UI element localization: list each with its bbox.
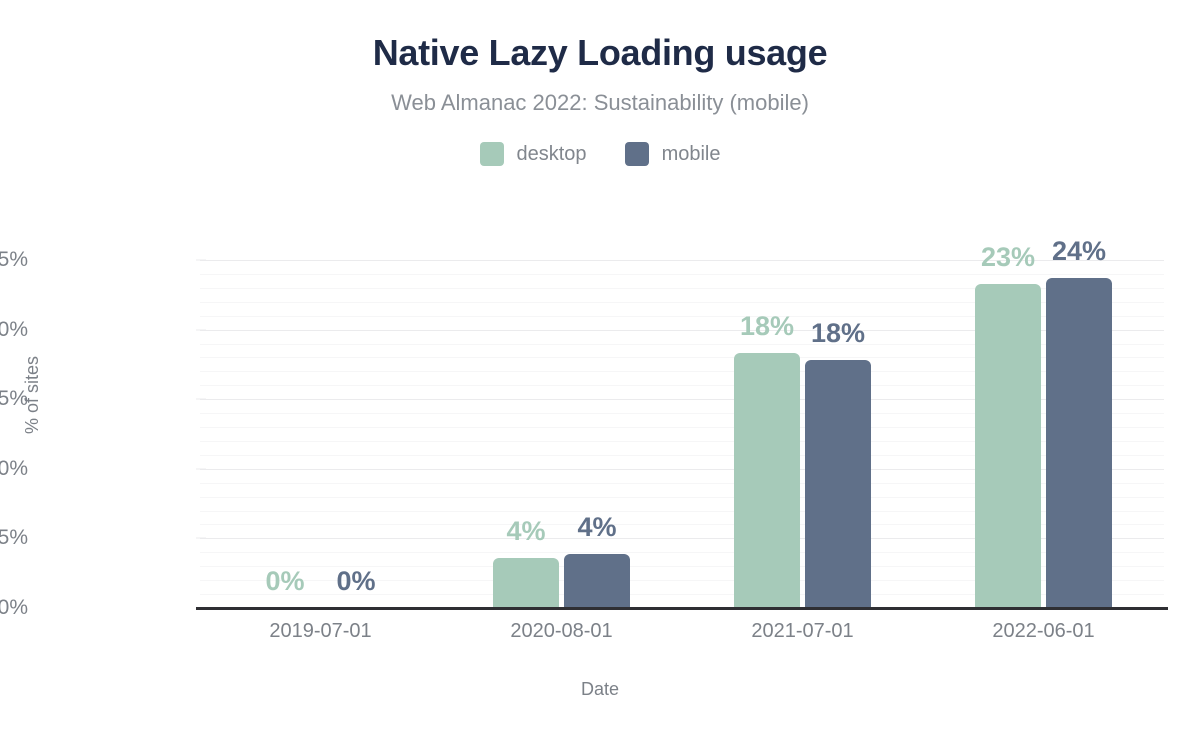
legend-item-mobile[interactable]: mobile	[625, 142, 721, 166]
bar-mobile-2022-06-01[interactable]	[1046, 278, 1112, 608]
chart-title: Native Lazy Loading usage	[0, 32, 1200, 74]
legend-item-desktop[interactable]: desktop	[480, 142, 587, 166]
y-axis-tick-mark	[196, 260, 206, 261]
bar-desktop-2021-07-01[interactable]	[734, 353, 800, 608]
y-axis-tick-label: 25%	[0, 248, 28, 272]
y-axis-tick-label: 10%	[0, 457, 28, 481]
bar-mobile-2020-08-01[interactable]	[564, 554, 630, 608]
chart-subtitle: Web Almanac 2022: Sustainability (mobile…	[0, 90, 1200, 116]
y-axis-tick-mark	[196, 399, 206, 400]
x-axis-tick-label: 2019-07-01	[269, 620, 371, 643]
bar-desktop-2022-06-01[interactable]	[975, 284, 1041, 608]
y-axis-tick-mark	[196, 538, 206, 539]
bar-value-label-mobile-2021-07-01: 18%	[811, 318, 865, 349]
x-axis-tick-label: 2020-08-01	[510, 620, 612, 643]
plot-area	[200, 260, 1164, 608]
bar-value-label-desktop-2020-08-01: 4%	[506, 516, 545, 547]
legend-swatch-desktop	[480, 142, 504, 166]
chart-container: Native Lazy Loading usage Web Almanac 20…	[0, 0, 1200, 742]
legend-label-desktop: desktop	[517, 143, 587, 166]
bar-desktop-2020-08-01[interactable]	[493, 558, 559, 608]
x-axis-tick-label: 2021-07-01	[751, 620, 853, 643]
x-axis-tick-label: 2022-06-01	[992, 620, 1094, 643]
y-axis-tick-mark	[196, 468, 206, 469]
gridline-minor	[200, 274, 1164, 275]
legend-label-mobile: mobile	[662, 143, 721, 166]
y-axis-title: % of sites	[22, 356, 43, 434]
x-axis-line	[196, 607, 1168, 610]
y-axis-tick-label: 0%	[0, 596, 28, 620]
bar-mobile-2021-07-01[interactable]	[805, 360, 871, 608]
bar-value-label-desktop-2022-06-01: 23%	[981, 242, 1035, 273]
y-axis-tick-label: 5%	[0, 526, 28, 550]
legend-swatch-mobile	[625, 142, 649, 166]
chart-legend: desktop mobile	[0, 142, 1200, 166]
bar-value-label-desktop-2019-07-01: 0%	[265, 566, 304, 597]
y-axis-tick-label: 20%	[0, 318, 28, 342]
y-axis-tick-mark	[196, 329, 206, 330]
bar-value-label-mobile-2022-06-01: 24%	[1052, 236, 1106, 267]
bar-value-label-mobile-2019-07-01: 0%	[336, 566, 375, 597]
bar-value-label-mobile-2020-08-01: 4%	[577, 512, 616, 543]
bar-value-label-desktop-2021-07-01: 18%	[740, 311, 794, 342]
x-axis-title: Date	[0, 679, 1200, 700]
